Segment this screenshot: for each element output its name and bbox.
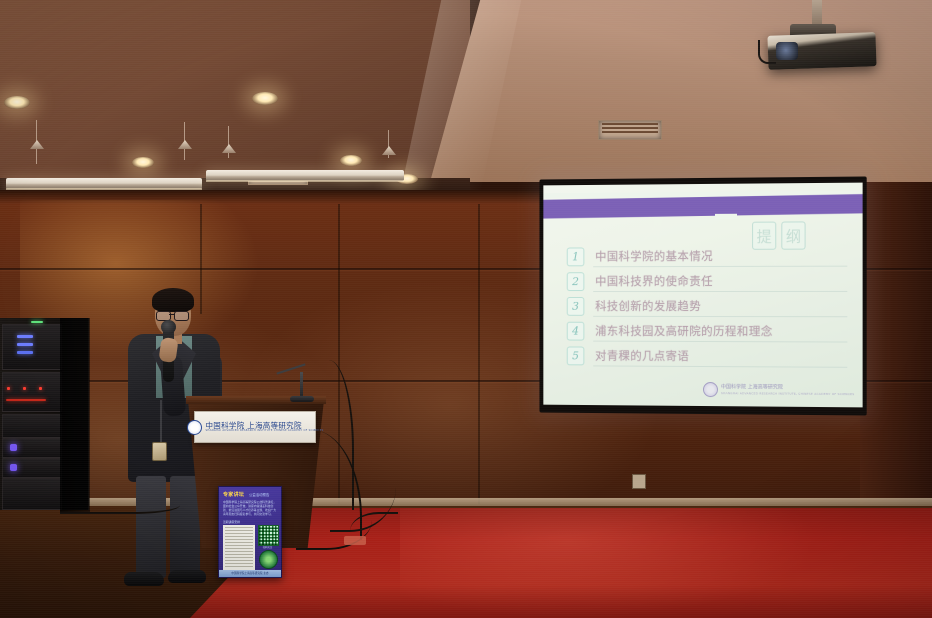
ceiling-air-vent [598,120,662,140]
slide-institution-logo: 中国科学院 上海高等研究院 SHANGHAI ADVANCED RESEARCH… [703,382,854,398]
poster-footer-text: 中国科学院上海高等研究院 主办 [219,570,281,577]
organization-seal-icon [259,550,278,569]
poster-footer-bar: 中国科学院上海高等研究院 主办 [219,570,281,577]
slide-outline-item: 4 浦东科技园及高研院的历程和理念 [567,319,841,344]
cas-emblem-icon [703,382,718,397]
slide-outline-item: 2 中国科技界的使命责任 [567,269,841,293]
outline-number-badge: 2 [567,272,585,291]
rack-unit [2,324,62,370]
outline-item-text: 中国科学院的基本情况 [595,248,713,264]
rack-unit [2,372,62,412]
rack-led-red [39,387,42,390]
linear-ceiling-light [206,170,404,181]
rack-led-blue [17,343,33,346]
cas-emblem-icon [187,420,202,435]
speaker-shoe [124,572,164,586]
slide-outline-list: 1 中国科学院的基本情况 2 中国科技界的使命责任 3 科技创新的发展趋势 4 [567,243,841,369]
slide-outline-item: 5 对青稞的几点寄语 [567,343,841,368]
rack-led-green [31,321,43,323]
rack-unit [2,478,62,510]
eyeglasses-icon [174,311,189,321]
ceiling-left-section [0,0,470,196]
rack-unit [2,414,62,438]
rack-side-shadow [60,318,90,513]
poster-schedule-panel [223,525,255,571]
outline-item-text: 科技创新的发展趋势 [595,298,701,314]
speaker-shoe [168,570,206,583]
projected-slide: 提 纲 1 中国科学院的基本情况 2 中国科技界的使命责任 3 科技创新的发展趋… [543,183,862,408]
projector-cable [758,40,776,64]
rack-unit [2,438,62,458]
outline-underline [593,316,847,317]
outline-item-text: 对青稞的几点寄语 [595,348,689,364]
outline-underline [593,341,847,343]
outline-number-badge: 3 [567,296,585,315]
eyeglasses-bridge [169,314,174,315]
lecture-hall-photo: 提 纲 1 中国科学院的基本情况 2 中国科技界的使命责任 3 科技创新的发展趋… [0,0,932,618]
name-badge [152,442,167,461]
outline-underline [593,365,847,367]
wall-panel-seam [862,380,932,382]
slide-outline-item: 1 中国科学院的基本情况 [567,243,841,268]
wall-panel-seam [478,204,480,504]
rack-unit [2,458,62,478]
poster-list-label: 近期讲座安排 [223,520,240,524]
rack-led-red [23,387,26,390]
slide-accent-notch [715,214,737,219]
outline-item-text: 浦东科技园及高研院的历程和理念 [595,323,773,339]
microphone-head-icon [161,320,176,334]
projector-lens [776,42,798,60]
outline-number-badge: 5 [567,346,585,365]
qr-code[interactable] [258,525,279,546]
poster-title: 专家讲坛 [223,491,244,498]
slide-outline-item: 3 科技创新的发展趋势 [567,294,841,318]
ceiling-downlight [252,92,278,105]
event-poster-standee: 专家讲坛 公益活动预告 中国科学院上海高等研究院公益科普讲坛，面向社会公众开放。… [218,486,282,578]
ceiling-downlight [132,157,154,168]
cable-tape-marker [344,536,366,545]
wall-panel-seam [200,204,202,314]
rack-led-violet [10,444,17,451]
podium-institution-sign: 中国科学院 上海高等研究院 SHANGHAI ADVANCED RESEARCH… [194,411,316,443]
speaker-trouser-leg [170,476,200,576]
poster-schedule-lines [225,527,253,569]
badge-lanyard [160,400,162,444]
rack-led-red [7,387,10,390]
outline-item-text: 中国科技界的使命责任 [595,273,713,289]
poster-body-text: 中国科学院上海高等研究院公益科普讲坛，面向社会公众开放。讲座内容涵盖科技创新、前… [223,500,277,516]
ceiling-downlight [4,96,30,109]
wall-outlet[interactable] [632,474,646,489]
outline-number-badge: 1 [567,247,585,266]
floor-cable [60,492,180,514]
outline-number-badge: 4 [567,321,585,340]
rack-led-violet [10,464,17,471]
qr-caption: 扫码关注 [258,545,277,549]
mic-stand-base [290,396,314,402]
carpet-highlight [400,508,820,618]
projection-screen-frame: 提 纲 1 中国科学院的基本情况 2 中国科技界的使命责任 3 科技创新的发展趋… [539,176,866,415]
outline-underline [593,266,847,268]
ceiling-downlight [340,155,362,166]
rack-led-blue [17,351,33,354]
linear-ceiling-light [6,178,202,189]
rack-led-strip-red [6,399,46,401]
slide-logo-en: SHANGHAI ADVANCED RESEARCH INSTITUTE, CH… [721,391,854,396]
wall-right-dark-return [860,182,932,522]
poster-subtitle: 公益活动预告 [249,492,269,497]
pendant-rod [228,126,229,158]
rack-led-blue [17,335,33,338]
outline-underline [593,291,847,292]
slide-logo-textblock: 中国科学院 上海高等研究院 SHANGHAI ADVANCED RESEARCH… [721,385,854,396]
speaker-hair [152,288,194,312]
